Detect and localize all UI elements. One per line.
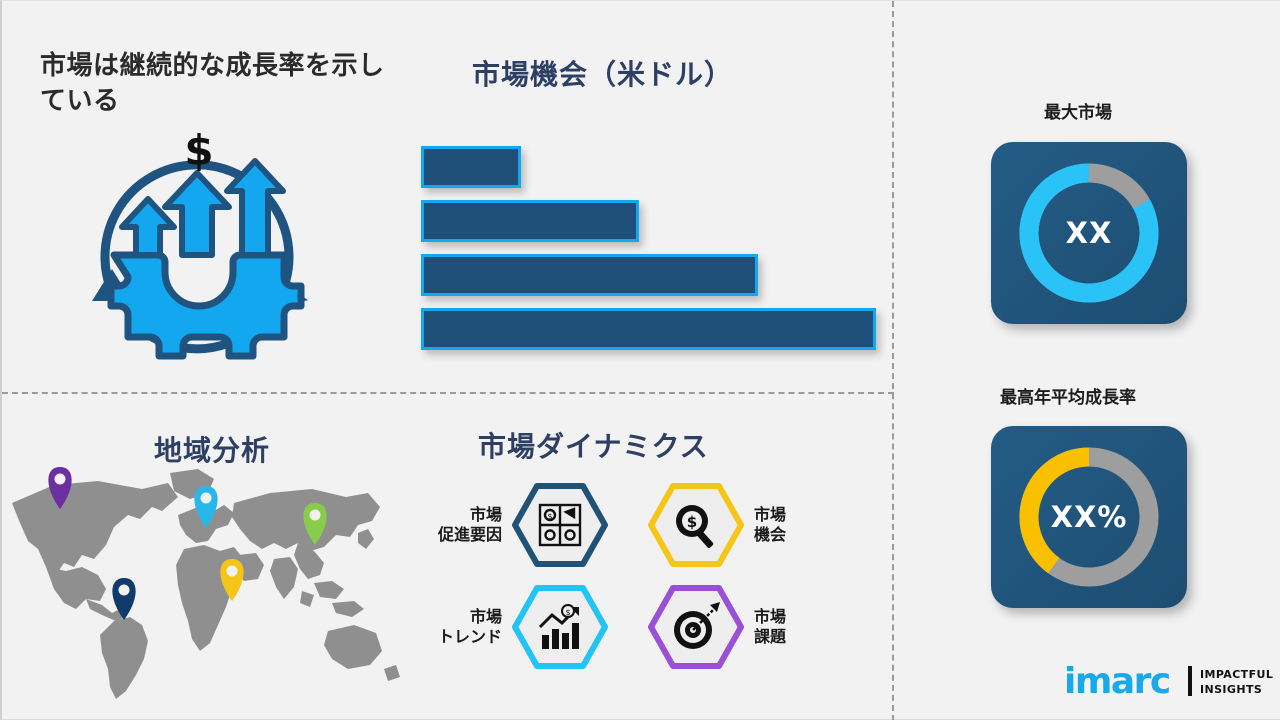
svg-text:$: $ — [565, 608, 570, 617]
bar-fill — [421, 200, 639, 242]
hexagon-opportunity: $ — [648, 483, 744, 567]
svg-text:$: $ — [547, 512, 552, 521]
hexagon-trends: $ — [512, 585, 608, 669]
bar-fill — [421, 146, 521, 188]
puzzle-pieces-icon — [540, 505, 580, 545]
bar-fill — [421, 308, 876, 350]
page-title-market-dynamics: 市場ダイナミクス — [478, 425, 709, 465]
highest-cagr-value: XX% — [991, 500, 1187, 534]
largest-market-card: XX — [991, 142, 1187, 324]
largest-market-label: 最大市場 — [1044, 98, 1112, 123]
bar-fill — [421, 254, 758, 296]
imarc-logo: imarc IMPACTFUL INSIGHTS — [1064, 656, 1269, 708]
dynamics-item-opportunity[interactable]: $ 市場 機会 — [648, 483, 846, 567]
growth-cycle-gear-icon: $ — [74, 129, 324, 369]
dynamics-item-trends[interactable]: 市場 トレンド $ — [410, 585, 608, 669]
dynamics-item-challenges[interactable]: 市場 課題 — [648, 585, 846, 669]
world-map — [2, 463, 402, 703]
highest-cagr-card: XX% — [991, 426, 1187, 608]
logo-tagline-line2: INSIGHTS — [1200, 683, 1273, 698]
dynamics-label-trends: 市場 トレンド — [410, 607, 502, 647]
logo-wordmark: imarc — [1064, 664, 1170, 700]
market-dynamics-group: 市場 促進要因 $ — [402, 481, 872, 671]
vertical-divider — [892, 1, 894, 720]
logo-tagline-line1: IMPACTFUL — [1200, 668, 1273, 683]
bar-4 — [421, 308, 876, 350]
bar-3 — [421, 254, 758, 296]
dynamics-label-challenges: 市場 課題 — [754, 607, 846, 647]
bar-1 — [421, 146, 521, 188]
logo-divider — [1188, 666, 1192, 696]
bar-2 — [421, 200, 639, 242]
slide-canvas: 市場は継続的な成長率を示している $ 市場機会（米ドル） 地域分析 市場ダイナミ… — [0, 0, 1280, 720]
logo-tagline: IMPACTFUL INSIGHTS — [1200, 668, 1273, 698]
largest-market-value: XX — [991, 216, 1187, 250]
dynamics-item-drivers[interactable]: 市場 促進要因 $ — [410, 483, 608, 567]
page-title-market-opportunity: 市場機会（米ドル） — [472, 53, 733, 93]
market-opportunity-bar-chart — [421, 146, 876, 351]
horizontal-divider — [2, 392, 894, 394]
currency-symbol: $ — [184, 129, 213, 175]
hexagon-drivers: $ — [512, 483, 608, 567]
hexagon-challenges — [648, 585, 744, 669]
headline-text: 市場は継続的な成長率を示している — [40, 49, 390, 119]
highest-cagr-label: 最高年平均成長率 — [1000, 383, 1136, 408]
dynamics-label-drivers: 市場 促進要因 — [410, 505, 502, 545]
dynamics-label-opportunity: 市場 機会 — [754, 505, 846, 545]
svg-text:$: $ — [687, 513, 697, 531]
